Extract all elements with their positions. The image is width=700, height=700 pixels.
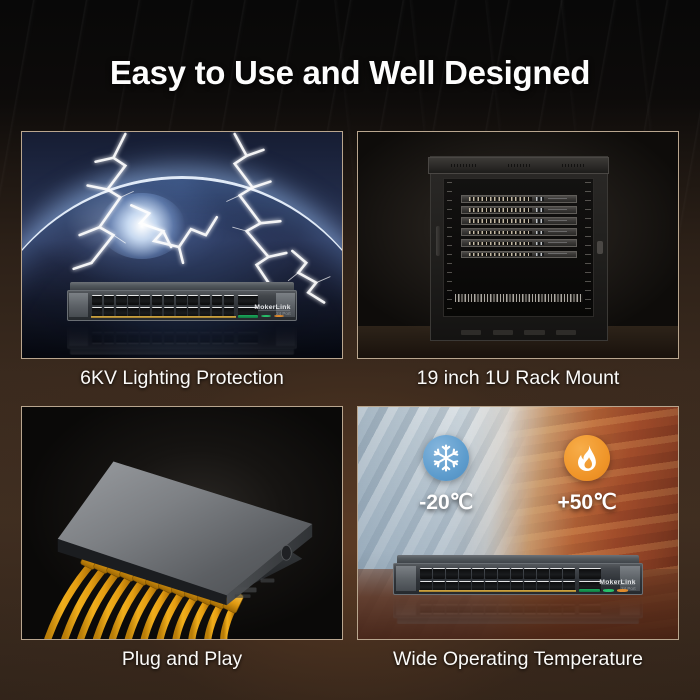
port-group bbox=[524, 568, 575, 591]
rack-unit bbox=[461, 195, 577, 203]
card-caption-lighting-protection: 6KV Lighting Protection bbox=[21, 367, 343, 390]
activity-led bbox=[274, 315, 284, 317]
poe-indicator-bar bbox=[579, 589, 600, 592]
snowflake-icon bbox=[431, 443, 461, 473]
switch-front-face: MokerLink 24 Port bbox=[393, 563, 643, 595]
switch-legend-text bbox=[258, 306, 290, 314]
network-switch-front: MokerLink 24 Port bbox=[67, 282, 297, 320]
cold-temperature-badge: -20℃ bbox=[419, 435, 473, 515]
poe-indicator-bar bbox=[238, 315, 258, 318]
power-led bbox=[261, 315, 271, 317]
cold-temperature-label: -20℃ bbox=[419, 490, 473, 515]
feature-collage: Easy to Use and Well Designed bbox=[0, 0, 700, 700]
rack-unit bbox=[461, 239, 577, 247]
card-caption-wide-operating-temperature: Wide Operating Temperature bbox=[357, 648, 679, 671]
rack-base-feet bbox=[456, 328, 582, 337]
plug-and-play-photo bbox=[21, 406, 343, 640]
angled-switch-with-cables-illustration bbox=[22, 407, 342, 639]
snowflake-badge-circle bbox=[423, 435, 469, 481]
rj45-port-bank bbox=[420, 568, 575, 591]
rack-interior bbox=[443, 178, 594, 317]
lighting-protection-photo: MokerLink 24 Port bbox=[21, 131, 343, 359]
rack-mount-rail-left bbox=[447, 182, 453, 314]
port-group bbox=[188, 295, 235, 317]
mounted-switch-stack bbox=[461, 195, 577, 258]
status-leds bbox=[603, 589, 628, 591]
switch-reflection bbox=[67, 321, 297, 355]
flame-icon bbox=[572, 443, 602, 473]
switch-front-face: MokerLink 24 Port bbox=[67, 290, 297, 321]
switch-reflection bbox=[393, 594, 643, 624]
rack-mount-rail-right bbox=[585, 182, 591, 314]
wide-temperature-photo: -20℃ +50℃ bbox=[357, 406, 679, 640]
rack-unit bbox=[461, 251, 577, 259]
rack-handle[interactable] bbox=[597, 241, 603, 254]
hot-temperature-label: +50℃ bbox=[557, 490, 616, 515]
temperature-badges: -20℃ +50℃ bbox=[377, 435, 659, 539]
rack-unit bbox=[461, 217, 577, 225]
rack-mount-photo bbox=[357, 131, 679, 359]
status-leds bbox=[261, 315, 284, 317]
port-group bbox=[472, 568, 523, 591]
rack-unit bbox=[461, 228, 577, 236]
rack-ear-left bbox=[396, 566, 416, 591]
power-led bbox=[603, 589, 614, 591]
hot-temperature-badge: +50℃ bbox=[557, 435, 616, 515]
port-group bbox=[140, 295, 187, 317]
card-caption-plug-and-play: Plug and Play bbox=[21, 648, 343, 671]
port-group bbox=[92, 295, 139, 317]
rack-unit bbox=[461, 206, 577, 214]
rj45-port-bank bbox=[92, 295, 235, 317]
page-title: Easy to Use and Well Designed bbox=[0, 54, 700, 92]
port-label-strip bbox=[91, 316, 236, 318]
port-label-strip bbox=[419, 590, 576, 592]
rack-cabinet bbox=[430, 156, 608, 341]
rack-bottom-vent bbox=[455, 294, 583, 302]
card-caption-rack-mount: 19 inch 1U Rack Mount bbox=[357, 367, 679, 390]
uplink-ports bbox=[579, 568, 601, 591]
network-switch-front: MokerLink 24 Port bbox=[393, 555, 643, 594]
rack-top-rail bbox=[428, 157, 609, 174]
flame-badge-circle bbox=[564, 435, 610, 481]
switch-legend-text bbox=[601, 580, 636, 588]
rack-door-latch[interactable] bbox=[436, 226, 440, 255]
rack-ear-left bbox=[69, 293, 88, 317]
port-group bbox=[420, 568, 471, 591]
activity-led bbox=[617, 589, 628, 591]
